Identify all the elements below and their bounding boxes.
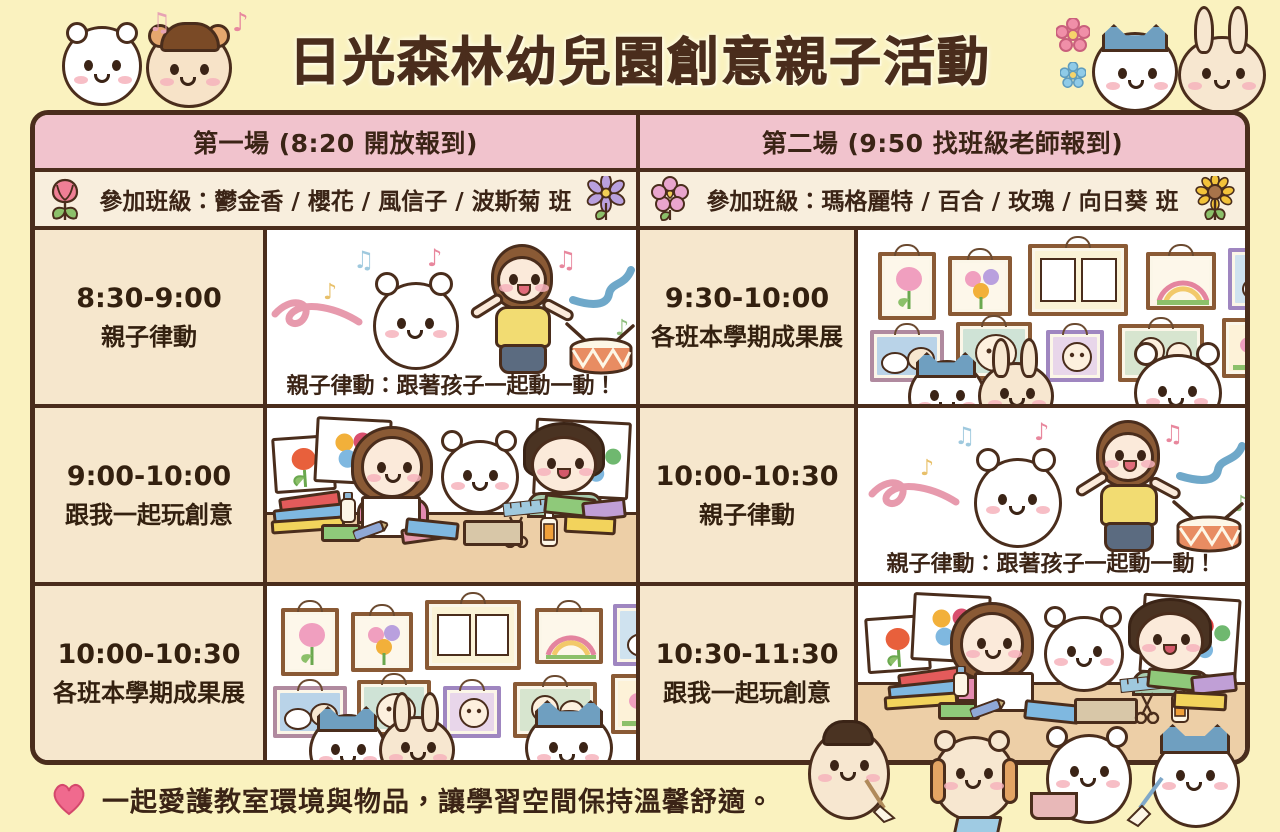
pink-flower-icon: [650, 176, 690, 222]
session-2-column: 第二場 (9:50 找班級老師報到) 參加班級：瑪格麗特 / 百合 / 玫瑰 /…: [640, 115, 1245, 760]
framed-artwork: [1028, 244, 1128, 316]
blue-hat-bear-character: [525, 700, 617, 760]
table-row: 9:00-10:00 跟我一起玩創意: [35, 408, 636, 586]
page-header: ♫ ♪ 日光森林幼兒園創意親子活動: [0, 0, 1280, 112]
white-bear-character: [1040, 606, 1128, 692]
rabbit-character: [974, 338, 1058, 404]
time-cell: 10:00-10:30 親子律動: [640, 408, 858, 582]
rabbit-character: [375, 692, 459, 760]
illustration-creative-craft: [267, 408, 636, 582]
illustration-artwork-exhibition: [267, 586, 636, 760]
music-note-icon: ♪: [920, 458, 934, 480]
rabbit-character: [1168, 6, 1268, 112]
footer-note: 一起愛護教室環境與物品，讓學習空間保持溫馨舒適。: [30, 775, 1250, 823]
illustration-caption: 親子律動：跟著孩子一起動一動！: [267, 368, 636, 400]
activity-name: 各班本學期成果展: [53, 673, 245, 708]
table-row: 9:30-10:00 各班本學期成果展: [640, 230, 1245, 408]
pencil-case: [463, 520, 523, 546]
time-value: 10:00-10:30: [655, 461, 838, 492]
time-cell: 9:00-10:00 跟我一起玩創意: [35, 408, 267, 582]
heart-icon: [50, 782, 88, 816]
white-bear-dancing-character: [968, 444, 1068, 552]
cosmos-flower-icon: [586, 176, 626, 222]
activity-name: 親子律動: [699, 495, 795, 530]
music-note-icon: ♫: [148, 10, 171, 36]
framed-artwork: [1228, 248, 1245, 310]
dancing-woman-character: [1072, 420, 1184, 562]
page-title: 日光森林幼兒園創意親子活動: [289, 20, 991, 95]
music-note-icon: ♪: [232, 10, 249, 36]
session-2-heading: 第二場 (9:50 找班級老師報到): [640, 115, 1245, 172]
framed-artwork: [613, 604, 636, 666]
session-1-classes: 參加班級：鬱金香 / 櫻花 / 風信子 / 波斯菊 班: [35, 172, 636, 230]
music-note-icon: ♪: [323, 282, 337, 304]
session-1-column: 第一場 (8:20 開放報到) 參加班級：鬱金香 / 櫻花 / 風信子 / 波斯…: [35, 115, 640, 760]
glue-bottle-icon: [339, 492, 357, 524]
music-note-icon: ♪: [1034, 420, 1049, 444]
framed-artwork: [425, 600, 521, 670]
time-cell: 10:00-10:30 各班本學期成果展: [35, 586, 267, 760]
activity-name: 親子律動: [101, 317, 197, 352]
colored-paper: [564, 515, 617, 536]
glue-stick-icon: [539, 510, 559, 548]
table-row: 10:00-10:30 各班本學期成果展: [35, 586, 636, 760]
music-note-icon: ♪: [427, 246, 442, 270]
illustration-parent-child-rhythm: ♫ ♪ ♪ ♫ ♪: [267, 230, 636, 404]
table-row: 10:00-10:30 親子律動 ♫ ♪ ♪ ♫ ♪: [640, 408, 1245, 586]
illustration-caption: 親子律動：跟著孩子一起動一動！: [858, 546, 1245, 578]
session-1-classes-label: 參加班級：鬱金香 / 櫻花 / 風信子 / 波斯菊 班: [93, 182, 578, 216]
illustration-artwork-exhibition: [858, 230, 1245, 404]
framed-artwork: [281, 608, 339, 676]
white-bear-character: [1132, 342, 1226, 404]
glue-bottle-icon: [952, 666, 970, 698]
session-1-heading: 第一場 (8:20 開放報到): [35, 115, 636, 172]
activity-name: 各班本學期成果展: [651, 317, 843, 352]
session-2-classes-label: 參加班級：瑪格麗特 / 百合 / 玫瑰 / 向日葵 班: [698, 182, 1187, 216]
time-value: 10:30-11:30: [655, 639, 838, 670]
activity-name: 跟我一起玩創意: [65, 495, 233, 530]
time-cell: 8:30-9:00 親子律動: [35, 230, 267, 404]
table-row: 8:30-9:00 親子律動 ♫ ♪ ♪ ♫ ♪: [35, 230, 636, 408]
blue-flower-icon: [1060, 62, 1086, 88]
schedule-table: 第一場 (8:20 開放報到) 參加班級：鬱金香 / 櫻花 / 風信子 / 波斯…: [30, 110, 1250, 765]
session-2-classes: 參加班級：瑪格麗特 / 百合 / 玫瑰 / 向日葵 班: [640, 172, 1245, 230]
time-cell: 9:30-10:00 各班本學期成果展: [640, 230, 858, 404]
time-value: 10:00-10:30: [57, 639, 240, 670]
framed-artwork: [1146, 252, 1216, 310]
framed-artwork: [535, 608, 603, 664]
white-bear-dancing-character: [367, 268, 467, 374]
time-value: 9:30-10:00: [665, 283, 829, 314]
pink-flower-icon: [1056, 18, 1090, 52]
time-value: 9:00-10:00: [67, 461, 231, 492]
framed-artwork: [351, 612, 413, 672]
framed-artwork: [948, 256, 1012, 316]
time-value: 8:30-9:00: [76, 283, 222, 314]
tulip-flower-icon: [45, 176, 85, 222]
sunflower-icon: [1195, 176, 1235, 222]
footer-text: 一起愛護教室環境與物品，讓學習空間保持溫馨舒適。: [102, 780, 774, 819]
illustration-parent-child-rhythm: ♫ ♪ ♪ ♫ ♪: [858, 408, 1245, 582]
white-bear-character: [62, 22, 146, 108]
dancing-woman-character: [467, 244, 577, 384]
framed-artwork: [878, 252, 936, 320]
